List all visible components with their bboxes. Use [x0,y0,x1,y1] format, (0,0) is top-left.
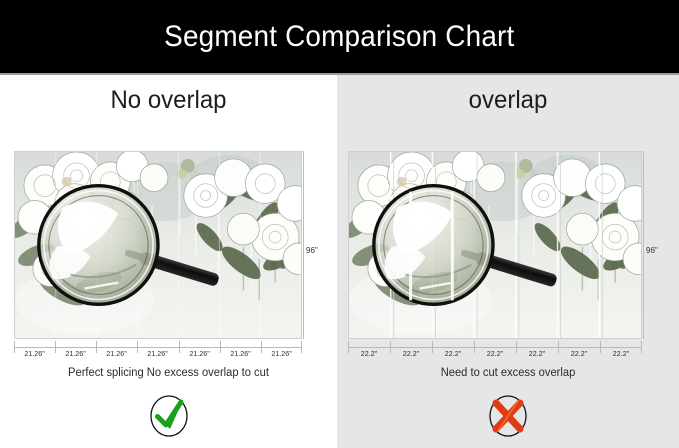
mural-figure-right [348,151,642,339]
segment-label: 22.2" [517,349,557,358]
height-label-left: 96" [306,246,318,255]
mural-artwork-left [15,152,301,338]
panels-container: No overlap [0,75,679,448]
mural-image-left [14,151,302,339]
segment-label: 22.2" [433,349,473,358]
page-title: Segment Comparison Chart [164,20,514,54]
segment-label-row-right: 22.2" 22.2" 22.2" 22.2" 22.2" 22.2" 22.2… [348,349,642,358]
title-banner: Segment Comparison Chart [0,0,679,73]
comparison-chart-page: Segment Comparison Chart No overlap [0,0,679,448]
mural-image-right [348,151,642,339]
segment-label: 22.2" [601,349,641,358]
segment-ruler-right: 22.2" 22.2" 22.2" 22.2" 22.2" 22.2" 22.2… [348,341,642,363]
mural-figure-left [14,151,302,339]
segment-label: 21.26" [15,349,54,358]
check-circle-icon [146,393,192,439]
ruler-baseline [348,347,642,348]
segment-label: 21.26" [97,349,136,358]
panel-heading-left: No overlap [7,86,331,115]
segment-label: 22.2" [559,349,599,358]
panel-no-overlap: No overlap [0,75,337,448]
height-guide-right [643,151,644,339]
cross-circle-icon [485,393,531,439]
height-guide-left [303,151,304,339]
segment-label: 21.26" [138,349,177,358]
magnifier-lens-left [39,186,158,305]
panel-overlap: overlap [337,75,679,448]
mural-artwork-right [349,152,641,338]
caption-left: Perfect splicing No excess overlap to cu… [5,367,332,379]
magnifier-lens-right [374,186,493,305]
ruler-baseline [14,347,302,348]
segment-label: 22.2" [391,349,431,358]
verdict-check-left [146,393,192,439]
verdict-cross-right [485,393,531,439]
segment-label: 21.26" [180,349,219,358]
segment-label: 22.2" [349,349,389,358]
segment-label: 21.26" [262,349,301,358]
segment-label: 21.26" [56,349,95,358]
height-label-right: 96" [646,246,658,255]
segment-label-row-left: 21.26" 21.26" 21.26" 21.26" 21.26" 21.26… [14,349,302,358]
segment-ruler-left: 21.26" 21.26" 21.26" 21.26" 21.26" 21.26… [14,341,302,363]
caption-right: Need to cut excess overlap [342,367,674,379]
segment-label: 22.2" [475,349,515,358]
panel-heading-right: overlap [344,86,672,115]
segment-label: 21.26" [221,349,260,358]
